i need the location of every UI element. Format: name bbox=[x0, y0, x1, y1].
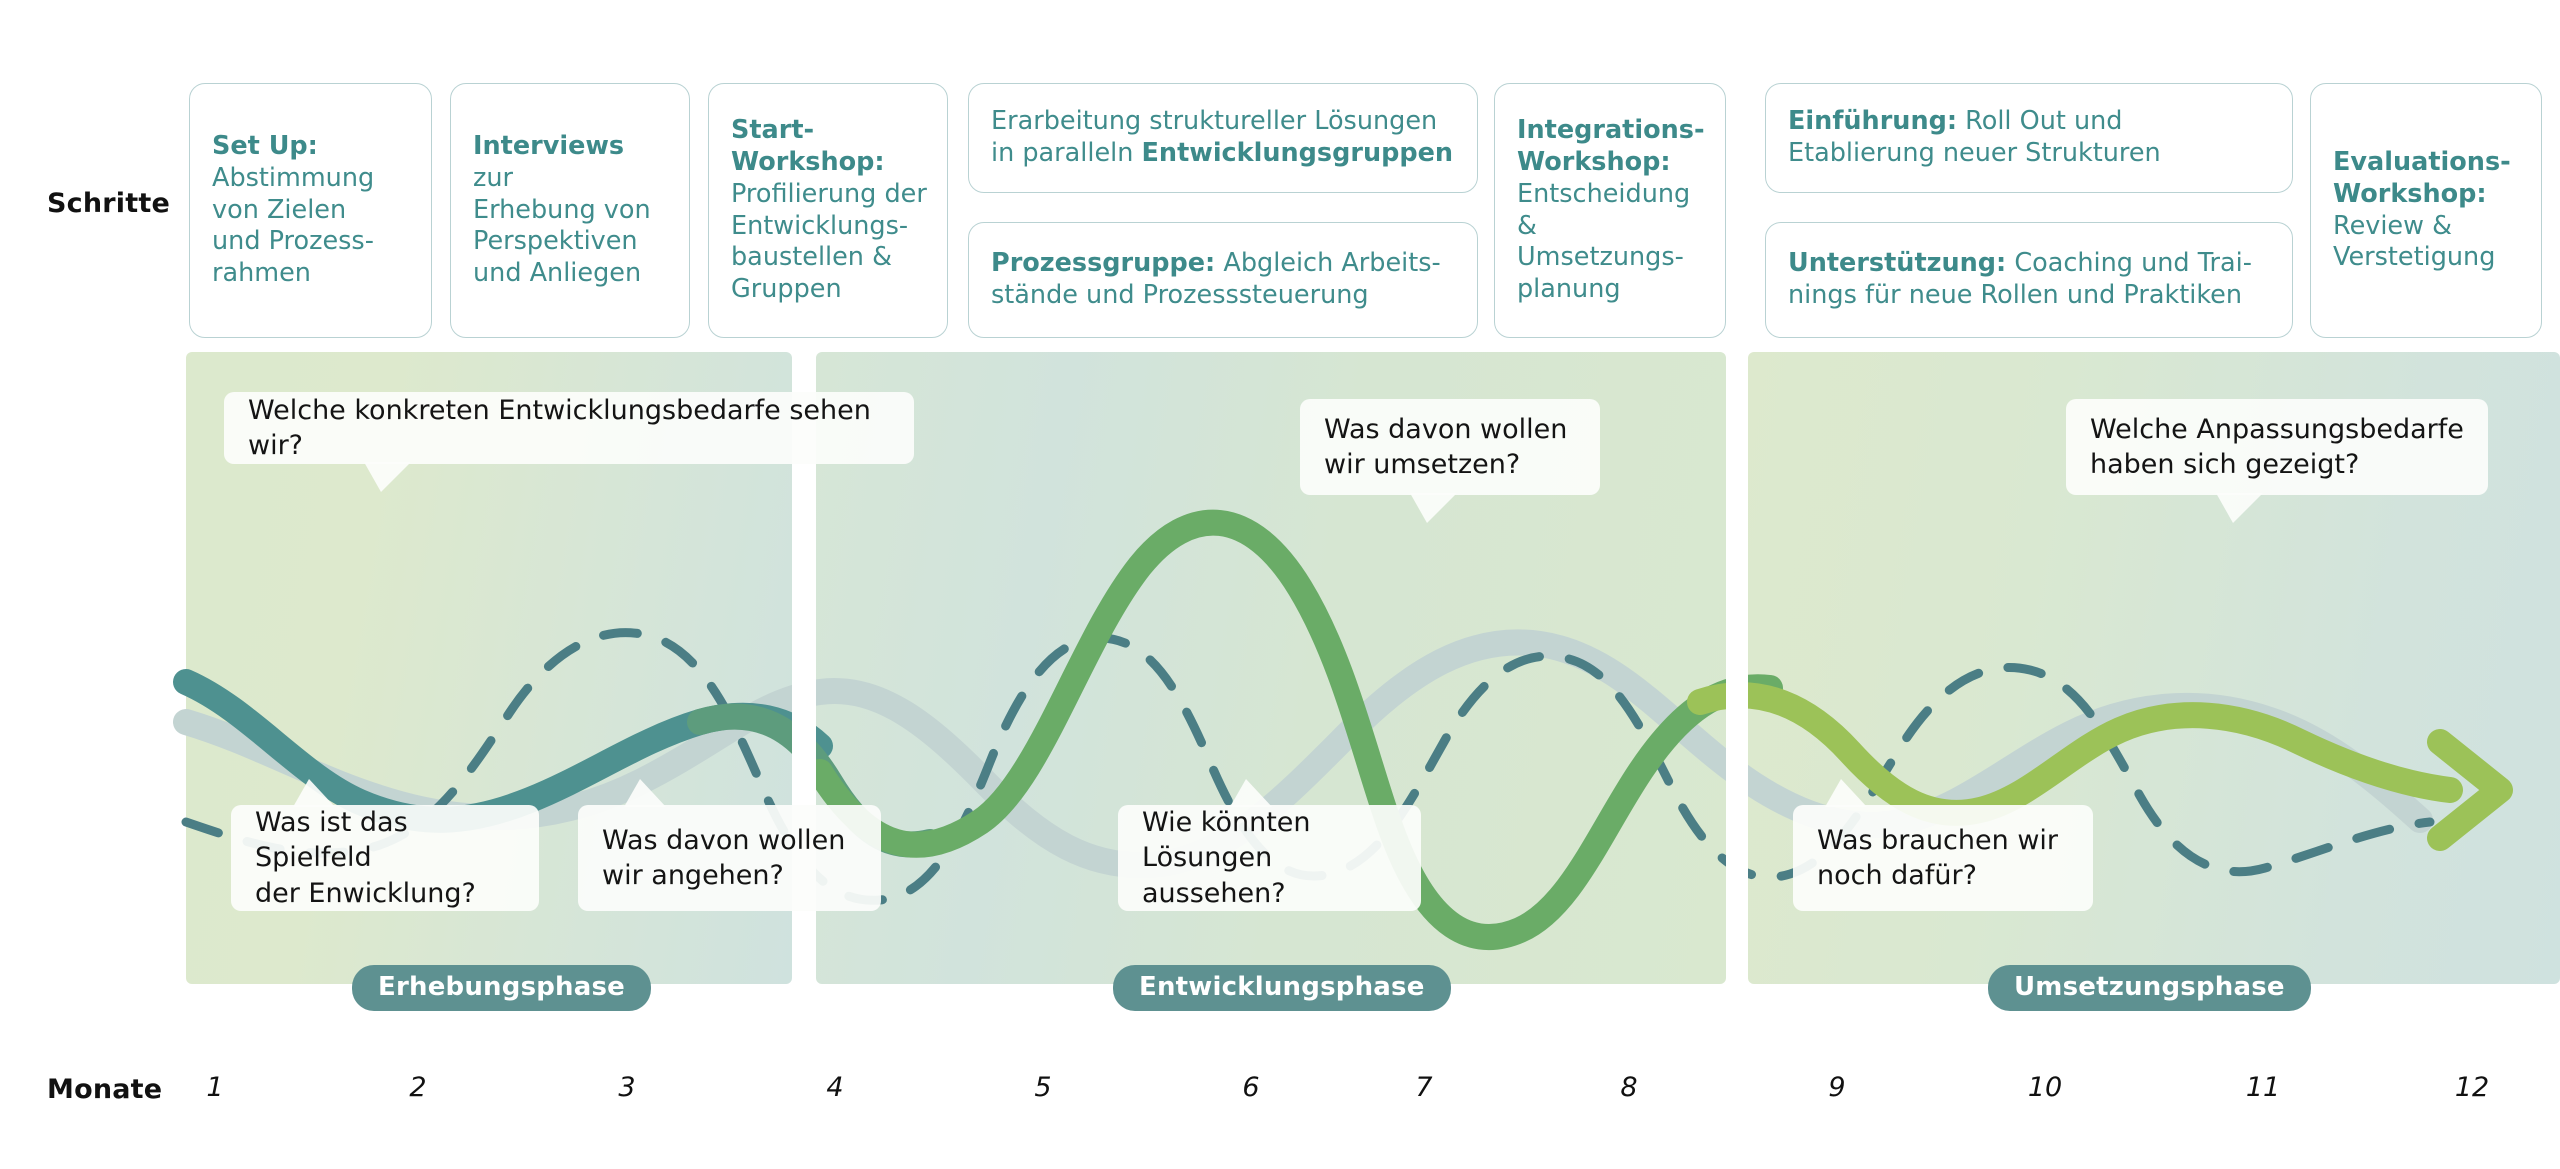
bubble-tail-icon bbox=[293, 779, 335, 807]
bubble-welche-anpassungsbedarfe-line2: haben sich gezeigt? bbox=[2090, 449, 2359, 480]
step-card-set-up-line4: rahmen bbox=[212, 258, 311, 288]
bubble-wie-koennten-loesungen-line1: Wie könnten bbox=[1142, 807, 1311, 838]
step-card-start-workshop-title-line2: Workshop: bbox=[731, 147, 885, 177]
step-card-prozessgruppe-line1: Abgleich Arbeits- bbox=[1215, 248, 1440, 278]
bubble-tail-icon bbox=[1230, 779, 1272, 807]
bubble-was-brauchen-wir-line1: Was brauchen wir bbox=[1817, 825, 2058, 856]
step-card-start-workshop-line3: Profilierung der bbox=[731, 179, 927, 209]
step-card-interviews-title-tail: zur bbox=[473, 163, 513, 193]
phase-pill-entwicklungsphase[interactable]: Entwicklungsphase bbox=[1113, 965, 1451, 1011]
bubble-was-davon-angehen-line1: Was davon wollen bbox=[602, 825, 845, 856]
bubble-was-ist-spielfeld[interactable]: Was ist das Spielfeld der Enwicklung? bbox=[231, 805, 539, 911]
month-tick-4: 4 bbox=[826, 1072, 843, 1103]
bubble-welche-anpassungsbedarfe[interactable]: Welche Anpassungsbedarfe haben sich geze… bbox=[2066, 399, 2488, 495]
bubble-was-davon-angehen[interactable]: Was davon wollen wir angehen? bbox=[578, 805, 881, 911]
step-card-integrations-workshop-line5: planung bbox=[1517, 274, 1621, 304]
panel-separator-2 bbox=[1726, 352, 1748, 984]
bubble-welche-konkreten-line1: Welche konkreten Entwicklungsbedarfe seh… bbox=[248, 395, 871, 461]
step-card-set-up[interactable]: Set Up: Abstimmung von Zielen und Prozes… bbox=[189, 83, 432, 338]
bubble-wie-koennten-loesungen[interactable]: Wie könnten Lösungen aussehen? bbox=[1118, 805, 1421, 911]
bubble-was-ist-spielfeld-line1: Was ist das Spielfeld bbox=[255, 807, 408, 873]
step-card-unterstuetzung-title: Unterstützung: bbox=[1788, 248, 2006, 278]
phase-pill-umsetzungsphase[interactable]: Umsetzungsphase bbox=[1988, 965, 2311, 1011]
month-tick-11: 11 bbox=[2246, 1072, 2280, 1103]
step-card-interviews-line3: Perspektiven bbox=[473, 226, 638, 256]
step-card-integrations-workshop-title-line1: Integrations- bbox=[1517, 115, 1705, 145]
step-card-einfuehrung[interactable]: Einführung: Roll Out und Etablierung neu… bbox=[1765, 83, 2293, 193]
step-card-entwicklungsgruppen-line1: Erarbeitung struktureller Lösungen bbox=[991, 106, 1437, 136]
bubble-was-davon-angehen-line2: wir angehen? bbox=[602, 860, 784, 891]
step-card-evaluations-workshop-line3: Review & bbox=[2333, 211, 2452, 241]
step-card-start-workshop-line5: baustellen & bbox=[731, 242, 892, 272]
step-card-unterstuetzung[interactable]: Unterstützung: Coaching und Trai- nings … bbox=[1765, 222, 2293, 338]
step-card-unterstuetzung-line2: nings für neue Rollen und Praktiken bbox=[1788, 280, 2242, 310]
step-card-evaluations-workshop-title-line1: Evaluations- bbox=[2333, 147, 2511, 177]
step-card-integrations-workshop-line4: Umsetzungs- bbox=[1517, 242, 1684, 272]
step-card-set-up-title: Set Up: bbox=[212, 131, 318, 161]
step-card-set-up-line3: und Prozess- bbox=[212, 226, 374, 256]
step-card-start-workshop-line6: Gruppen bbox=[731, 274, 842, 304]
bubble-wie-koennten-loesungen-line2: Lösungen aussehen? bbox=[1142, 842, 1286, 908]
month-tick-6: 6 bbox=[1242, 1072, 1259, 1103]
month-tick-3: 3 bbox=[618, 1072, 635, 1103]
step-card-integrations-workshop[interactable]: Integrations- Workshop: Entscheidung & U… bbox=[1494, 83, 1726, 338]
month-tick-5: 5 bbox=[1034, 1072, 1051, 1103]
bubble-welche-anpassungsbedarfe-line1: Welche Anpassungsbedarfe bbox=[2090, 414, 2464, 445]
bubble-welche-konkreten[interactable]: Welche konkreten Entwicklungsbedarfe seh… bbox=[224, 392, 914, 464]
phase-pill-erhebungsphase[interactable]: Erhebungsphase bbox=[352, 965, 651, 1011]
step-card-integrations-workshop-title-line2: Workshop: bbox=[1517, 147, 1671, 177]
steps-row-label: Schritte bbox=[47, 188, 170, 219]
step-card-entwicklungsgruppen-line2-pre: in paralleln bbox=[991, 138, 1142, 168]
step-card-unterstuetzung-line1: Coaching und Trai- bbox=[2006, 248, 2252, 278]
bubble-was-brauchen-wir[interactable]: Was brauchen wir noch dafür? bbox=[1793, 805, 2093, 911]
step-card-integrations-workshop-line3: Entscheidung & bbox=[1517, 179, 1690, 241]
step-card-entwicklungsgruppen-line2-bold: Entwicklungsgruppen bbox=[1142, 138, 1454, 168]
bubble-was-davon-umsetzen-line2: wir umsetzen? bbox=[1324, 449, 1520, 480]
step-card-set-up-line1: Abstimmung bbox=[212, 163, 374, 193]
bubble-tail-icon bbox=[624, 779, 666, 807]
bubble-was-davon-umsetzen-line1: Was davon wollen bbox=[1324, 414, 1567, 445]
month-tick-10: 10 bbox=[2028, 1072, 2062, 1103]
step-card-interviews[interactable]: Interviews zur Erhebung von Perspektiven… bbox=[450, 83, 690, 338]
step-card-entwicklungsgruppen[interactable]: Erarbeitung struktureller Lösungen in pa… bbox=[968, 83, 1478, 193]
bubble-was-davon-umsetzen[interactable]: Was davon wollen wir umsetzen? bbox=[1300, 399, 1600, 495]
step-card-start-workshop[interactable]: Start- Workshop: Profilierung der Entwic… bbox=[708, 83, 948, 338]
step-card-start-workshop-title-line1: Start- bbox=[731, 115, 814, 145]
month-tick-12: 12 bbox=[2455, 1072, 2489, 1103]
step-card-evaluations-workshop-title-line2: Workshop: bbox=[2333, 179, 2487, 209]
step-card-set-up-line2: von Zielen bbox=[212, 195, 346, 225]
step-card-prozessgruppe-line2: stände und Prozesssteuerung bbox=[991, 280, 1369, 310]
bubble-tail-icon bbox=[2216, 493, 2263, 523]
bubble-was-brauchen-wir-line2: noch dafür? bbox=[1817, 860, 1977, 891]
curve-umsetzung-lightgreen bbox=[1700, 695, 2450, 813]
step-card-evaluations-workshop[interactable]: Evaluations- Workshop: Review & Versteti… bbox=[2310, 83, 2542, 338]
month-tick-9: 9 bbox=[1828, 1072, 1845, 1103]
step-card-einfuehrung-line2: Etablierung neuer Strukturen bbox=[1788, 138, 2161, 168]
step-card-evaluations-workshop-line4: Verstetigung bbox=[2333, 242, 2495, 272]
bubble-tail-icon bbox=[1825, 779, 1867, 807]
step-card-interviews-title: Interviews bbox=[473, 131, 624, 161]
month-tick-1: 1 bbox=[206, 1072, 223, 1103]
month-tick-7: 7 bbox=[1415, 1072, 1432, 1103]
bubble-was-ist-spielfeld-line2: der Enwicklung? bbox=[255, 878, 476, 909]
step-card-einfuehrung-title: Einführung: bbox=[1788, 106, 1957, 136]
months-row-label: Monate bbox=[47, 1074, 162, 1105]
step-card-interviews-line4: und Anliegen bbox=[473, 258, 641, 288]
month-tick-8: 8 bbox=[1620, 1072, 1637, 1103]
bubble-tail-icon bbox=[364, 462, 411, 492]
step-card-prozessgruppe[interactable]: Prozessgruppe: Abgleich Arbeits- stände … bbox=[968, 222, 1478, 338]
bubble-tail-icon bbox=[1410, 493, 1457, 523]
step-card-einfuehrung-line1: Roll Out und bbox=[1957, 106, 2122, 136]
step-card-start-workshop-line4: Entwicklungs- bbox=[731, 211, 908, 241]
step-card-interviews-line2: Erhebung von bbox=[473, 195, 651, 225]
month-tick-2: 2 bbox=[409, 1072, 426, 1103]
step-card-prozessgruppe-title: Prozessgruppe: bbox=[991, 248, 1215, 278]
